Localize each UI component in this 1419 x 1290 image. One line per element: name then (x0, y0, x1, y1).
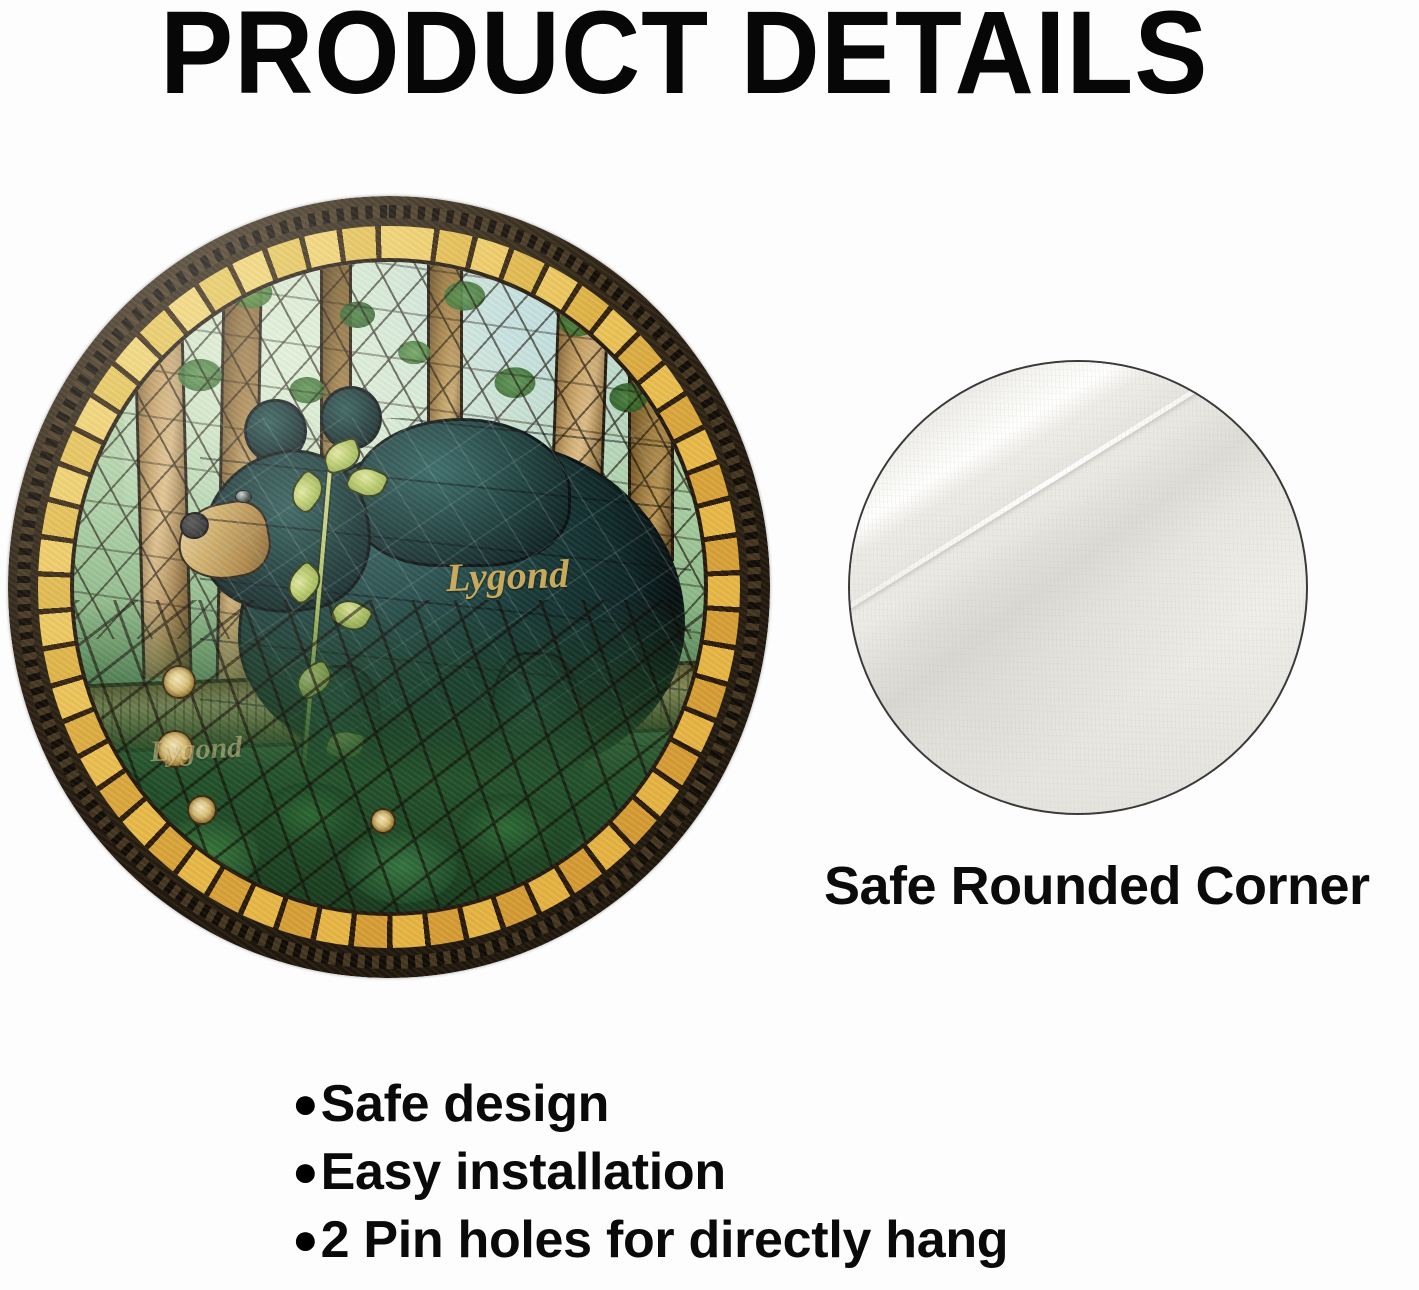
product-image: Lygond Lygond (8, 196, 770, 978)
feature-label: Safe design (321, 1078, 610, 1130)
page-title: PRODUCT DETAILS (160, 0, 1183, 112)
glass-flower (156, 730, 194, 768)
list-item: ● Easy installation (292, 1138, 1292, 1206)
glass-flower (370, 808, 396, 834)
product-details-page: PRODUCT DETAILS (0, 0, 1419, 1290)
stained-glass-disc: Lygond Lygond (8, 196, 770, 978)
bullet-icon: ● (292, 1150, 319, 1194)
glass-flower (162, 665, 196, 699)
bullet-icon: ● (292, 1218, 319, 1262)
disc-surface-texture (850, 362, 1306, 813)
corner-detail-caption: Safe Rounded Corner (824, 858, 1419, 915)
corner-detail-image (848, 360, 1308, 815)
list-item: ● Safe design (292, 1070, 1292, 1138)
bear-shoulder-hump (351, 418, 571, 567)
bullet-icon: ● (292, 1082, 319, 1126)
list-item: ● 2 Pin holes for directly hang (292, 1206, 1292, 1274)
feature-list: ● Safe design ● Easy installation ● 2 Pi… (292, 1070, 1292, 1274)
bear-eye (235, 490, 252, 504)
forest-scene: Lygond (74, 262, 704, 912)
feature-label: Easy installation (321, 1146, 726, 1198)
feature-label: 2 Pin holes for directly hang (321, 1214, 1009, 1266)
rounded-corner-disc (848, 360, 1308, 815)
